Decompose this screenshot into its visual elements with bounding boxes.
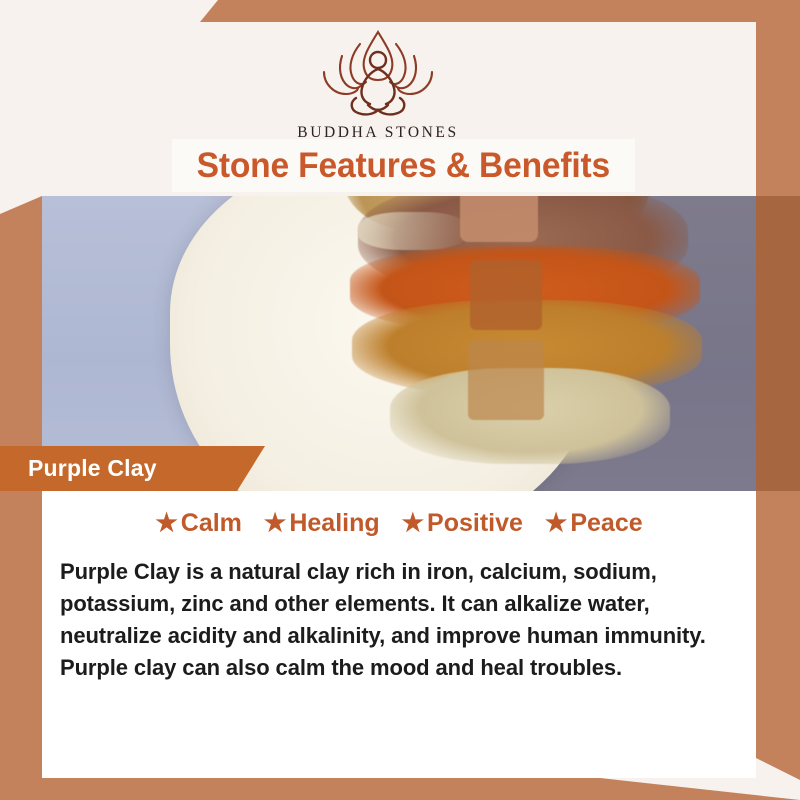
feature-label: Calm — [181, 509, 242, 538]
left-copper-bar — [0, 196, 42, 800]
lotus-meditation-icon — [298, 26, 458, 122]
star-icon: ★ — [545, 511, 567, 536]
feature-item-positive: ★ Positive — [402, 509, 523, 538]
right-copper-bar-dark-segment — [756, 196, 800, 491]
product-name-banner: Purple Clay — [0, 446, 265, 491]
clay-chip-lower — [468, 340, 544, 420]
feature-label: Healing — [289, 509, 379, 538]
star-icon: ★ — [402, 511, 424, 536]
feature-label: Peace — [570, 509, 642, 538]
feature-list: ★ Calm ★ Healing ★ Positive ★ Peace — [42, 491, 756, 538]
brand-logo: BUDDHA STONES — [297, 26, 458, 142]
clay-chip-upper — [460, 196, 538, 242]
star-icon: ★ — [264, 511, 286, 536]
clay-chip-middle — [470, 260, 542, 330]
poster-canvas: BUDDHA STONES Stone Features & Benefits … — [0, 0, 800, 800]
feature-label: Positive — [427, 509, 523, 538]
description-card: ★ Calm ★ Healing ★ Positive ★ Peace Purp… — [42, 491, 756, 778]
product-description: Purple Clay is a natural clay rich in ir… — [60, 556, 738, 684]
feature-item-calm: ★ Calm — [155, 509, 242, 538]
bottom-copper-bar — [0, 778, 800, 800]
powder-streak — [358, 212, 468, 250]
product-name-label: Purple Clay — [28, 455, 157, 482]
title-panel: Stone Features & Benefits — [172, 139, 635, 192]
feature-item-peace: ★ Peace — [545, 509, 643, 538]
feature-item-healing: ★ Healing — [264, 509, 380, 538]
star-icon: ★ — [155, 511, 177, 536]
page-title: Stone Features & Benefits — [197, 146, 610, 186]
top-copper-bar — [200, 0, 800, 22]
